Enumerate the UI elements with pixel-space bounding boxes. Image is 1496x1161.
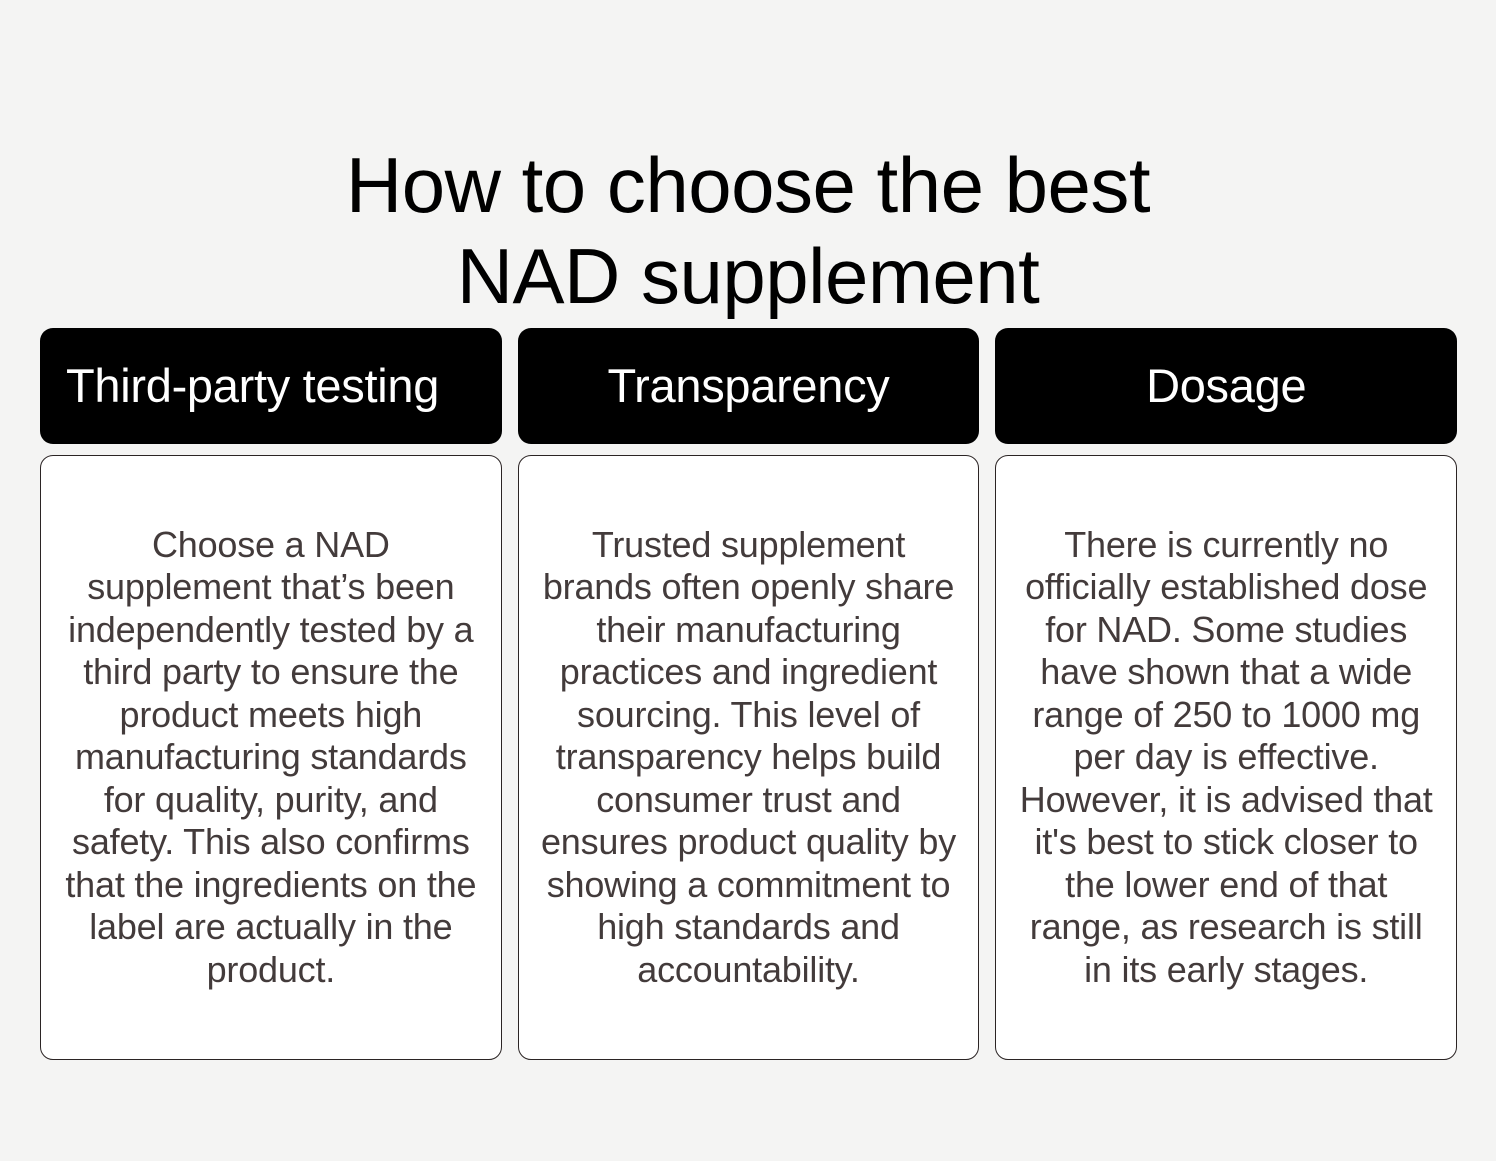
card-third-party-testing: Third-party testing Choose a NAD supplem… <box>40 328 502 1060</box>
infographic-page: How to choose the best NAD supplement Th… <box>0 0 1496 1161</box>
card-header-dosage: Dosage <box>995 328 1457 444</box>
card-transparency: Transparency Trusted supplement brands o… <box>518 328 980 1060</box>
card-header-transparency: Transparency <box>518 328 980 444</box>
card-dosage: Dosage There is currently no officially … <box>995 328 1457 1060</box>
card-body-text: There is currently no officially establi… <box>1018 524 1434 991</box>
card-body-dosage: There is currently no officially establi… <box>995 455 1457 1060</box>
card-header-third-party-testing: Third-party testing <box>40 328 502 444</box>
page-title: How to choose the best NAD supplement <box>0 140 1496 321</box>
card-heading-label: Third-party testing <box>66 360 439 412</box>
card-heading-label: Transparency <box>608 360 890 412</box>
card-body-third-party-testing: Choose a NAD supplement that’s been inde… <box>40 455 502 1060</box>
card-heading-label: Dosage <box>1146 360 1306 412</box>
card-body-transparency: Trusted supplement brands often openly s… <box>518 455 980 1060</box>
card-grid: Third-party testing Choose a NAD supplem… <box>40 328 1457 1060</box>
card-body-text: Trusted supplement brands often openly s… <box>541 524 957 991</box>
card-body-text: Choose a NAD supplement that’s been inde… <box>63 524 479 991</box>
